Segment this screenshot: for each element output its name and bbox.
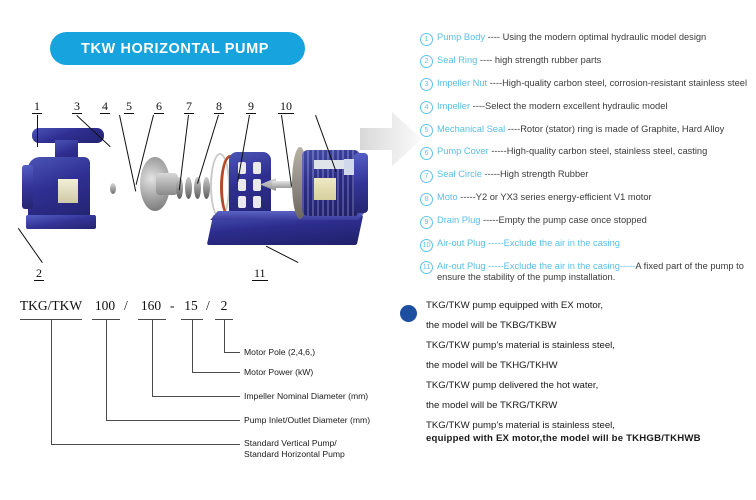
pump-base-part xyxy=(26,215,96,229)
model-nomenclature-diagram: TKG/TKW 100 / 160 - 15 / 2 Motor Pole (2… xyxy=(18,298,388,488)
legend-item-4: 4 Impeller ----Select the modern excelle… xyxy=(420,101,756,115)
legend-desc-6: High-quality carbon steel, stainless ste… xyxy=(507,146,708,156)
legend-part-11: Air-out Plug -----Exclude the air in the… xyxy=(437,261,635,271)
legend-desc-9: Empty the pump case once stopped xyxy=(499,215,647,225)
legend-part-8: Moto xyxy=(437,192,458,202)
legend-text-1: Pump Body ---- Using the modern optimal … xyxy=(437,32,756,43)
legend-number-1: 1 xyxy=(420,33,433,46)
nomenclature-label-motor-pole: Motor Pole (2,4,6,) xyxy=(244,347,315,358)
legend-sep-9: ----- xyxy=(480,215,498,225)
legend-number-3: 3 xyxy=(420,78,433,91)
legend-sep-5: ---- xyxy=(505,124,520,134)
model-code-row: TKG/TKW 100 / 160 - 15 / 2 xyxy=(18,298,258,320)
legend-sep-10: ----- xyxy=(486,238,504,248)
callout-11: 11 xyxy=(252,267,268,281)
nomenclature-label-standard-horizontal-pump: Standard Horizontal Pump xyxy=(244,449,345,460)
legend-part-10: Air-out Plug xyxy=(437,238,486,248)
legend-text-9: Drain Plug -----Empty the pump case once… xyxy=(437,215,756,226)
legend-part-7: Seal Circle xyxy=(437,169,482,179)
product-spec-page: TKW HORIZONTAL PUMP xyxy=(0,0,756,500)
model-variants-notes: TKG/TKW pump equipped with EX motor, the… xyxy=(400,300,756,453)
legend-desc-3: High-quality carbon steel, corrosion-res… xyxy=(502,78,747,88)
legend-number-9: 9 xyxy=(420,216,433,229)
note-line-1: TKG/TKW pump equipped with EX motor, xyxy=(400,300,756,311)
exploded-pump-diagram: 1 3 4 5 6 7 8 9 10 2 11 xyxy=(14,95,374,290)
legend-number-8: 8 xyxy=(420,193,433,206)
legend-text-8: Moto -----Y2 or YX3 series energy-effici… xyxy=(437,192,756,203)
legend-sep-3: ---- xyxy=(487,78,502,88)
code-inlet: 100 xyxy=(90,298,120,314)
legend-sep-1: ---- xyxy=(485,32,503,42)
legend-sep-2: ---- xyxy=(477,55,495,65)
pump-inlet-part xyxy=(22,165,33,209)
mechanical-seal-part-2 xyxy=(185,177,192,199)
callout-4: 4 xyxy=(100,100,110,114)
right-arrow-icon xyxy=(358,108,424,170)
note-line-4: the model will be TKHG/TKHW xyxy=(400,360,756,371)
legend-item-5: 5 Mechanical Seal ----Rotor (stator) rin… xyxy=(420,124,756,138)
note-line-8: equipped with EX motor,the model will be… xyxy=(400,433,756,444)
code-dash: - xyxy=(170,298,175,314)
bullet-dot-icon xyxy=(400,305,417,322)
legend-text-5: Mechanical Seal ----Rotor (stator) ring … xyxy=(437,124,756,135)
legend-desc-4: Select the modern excellent hydraulic mo… xyxy=(485,101,667,111)
legend-part-9: Drain Plug xyxy=(437,215,480,225)
code-pole: 2 xyxy=(216,298,232,314)
legend-text-11: Air-out Plug -----Exclude the air in the… xyxy=(437,261,756,283)
legend-sep-8: ----- xyxy=(458,192,476,202)
code-impeller: 160 xyxy=(136,298,166,314)
title-banner: TKW HORIZONTAL PUMP xyxy=(50,32,305,65)
nomenclature-label-standard-vertical-pump: Standard Vertical Pump/ xyxy=(244,438,337,449)
legend-item-11: 11 Air-out Plug -----Exclude the air in … xyxy=(420,261,756,283)
legend-part-4: Impeller xyxy=(437,101,470,111)
pump-nameplate xyxy=(58,179,78,203)
code-prefix: TKG/TKW xyxy=(18,298,84,314)
legend-number-10: 10 xyxy=(420,239,433,252)
code-power: 15 xyxy=(180,298,202,314)
legend-part-3: Impeller Nut xyxy=(437,78,487,88)
legend-item-9: 9 Drain Plug -----Empty the pump case on… xyxy=(420,215,756,229)
nomenclature-label-motor-power: Motor Power (kW) xyxy=(244,367,313,378)
legend-text-2: Seal Ring ---- high strength rubber part… xyxy=(437,55,756,66)
motor-terminal-box-part xyxy=(314,178,336,200)
mechanical-seal-part-4 xyxy=(203,177,210,199)
legend-desc-1: Using the modern optimal hydraulic model… xyxy=(503,32,707,42)
nomenclature-label-inlet-outlet-diameter: Pump Inlet/Outlet Diameter (mm) xyxy=(244,415,370,426)
legend-part-1: Pump Body xyxy=(437,32,485,42)
legend-desc-10: Exclude the air in the casing xyxy=(504,238,620,248)
legend-text-10: Air-out Plug -----Exclude the air in the… xyxy=(437,238,756,249)
legend-part-6: Pump Cover xyxy=(437,146,489,156)
legend-item-6: 6 Pump Cover -----High-quality carbon st… xyxy=(420,146,756,160)
callout-3: 3 xyxy=(72,100,82,114)
callout-7: 7 xyxy=(184,100,194,114)
parts-legend-list: 1 Pump Body ---- Using the modern optima… xyxy=(420,32,756,292)
legend-item-10: 10 Air-out Plug -----Exclude the air in … xyxy=(420,238,756,252)
impeller-nut-part xyxy=(110,183,116,194)
callout-10: 10 xyxy=(278,100,294,114)
legend-part-5: Mechanical Seal xyxy=(437,124,505,134)
legend-desc-2: high strength rubber parts xyxy=(495,55,601,65)
legend-number-11: 11 xyxy=(420,261,433,274)
legend-item-7: 7 Seal Circle -----High strength Rubber xyxy=(420,169,756,183)
legend-item-2: 2 Seal Ring ---- high strength rubber pa… xyxy=(420,55,756,69)
legend-text-3: Impeller Nut ----High-quality carbon ste… xyxy=(437,78,756,89)
code-slash-2: / xyxy=(206,298,210,314)
legend-item-1: 1 Pump Body ---- Using the modern optima… xyxy=(420,32,756,46)
legend-desc-5: Rotor (stator) ring is made of Graphite,… xyxy=(520,124,724,134)
legend-sep-6: ----- xyxy=(489,146,507,156)
page-title: TKW HORIZONTAL PUMP xyxy=(50,41,269,57)
legend-item-8: 8 Moto -----Y2 or YX3 series energy-effi… xyxy=(420,192,756,206)
legend-number-5: 5 xyxy=(420,124,433,137)
legend-number-6: 6 xyxy=(420,147,433,160)
nomenclature-label-impeller-diameter: Impeller Nominal Diameter (mm) xyxy=(244,391,368,402)
impeller-hub-part xyxy=(156,173,178,195)
legend-desc-7: High strength Rubber xyxy=(500,169,588,179)
legend-item-3: 3 Impeller Nut ----High-quality carbon s… xyxy=(420,78,756,92)
note-line-3: TKG/TKW pump's material is stainless ste… xyxy=(400,340,756,351)
legend-sep-4: ---- xyxy=(470,101,485,111)
callout-8: 8 xyxy=(214,100,224,114)
callout-5: 5 xyxy=(124,100,134,114)
legend-number-4: 4 xyxy=(420,101,433,114)
callout-6: 6 xyxy=(154,100,164,114)
code-slash-1: / xyxy=(124,298,128,314)
legend-number-7: 7 xyxy=(420,170,433,183)
callout-9: 9 xyxy=(246,100,256,114)
legend-text-4: Impeller ----Select the modern excellent… xyxy=(437,101,756,112)
legend-text-6: Pump Cover -----High-quality carbon stee… xyxy=(437,146,756,157)
legend-part-2: Seal Ring xyxy=(437,55,477,65)
note-line-7: TKG/TKW pump's material is stainless ste… xyxy=(400,420,756,431)
note-line-6: the model will be TKRG/TKRW xyxy=(400,400,756,411)
legend-desc-8: Y2 or YX3 series energy-efficient V1 mot… xyxy=(476,192,652,202)
legend-number-2: 2 xyxy=(420,55,433,68)
legend-text-7: Seal Circle -----High strength Rubber xyxy=(437,169,756,180)
callout-1: 1 xyxy=(32,100,42,114)
note-line-5: TKG/TKW pump delivered the hot water, xyxy=(400,380,756,391)
legend-sep-7: ----- xyxy=(482,169,500,179)
note-line-2: the model will be TKBG/TKBW xyxy=(400,320,756,331)
callout-2: 2 xyxy=(34,267,44,281)
